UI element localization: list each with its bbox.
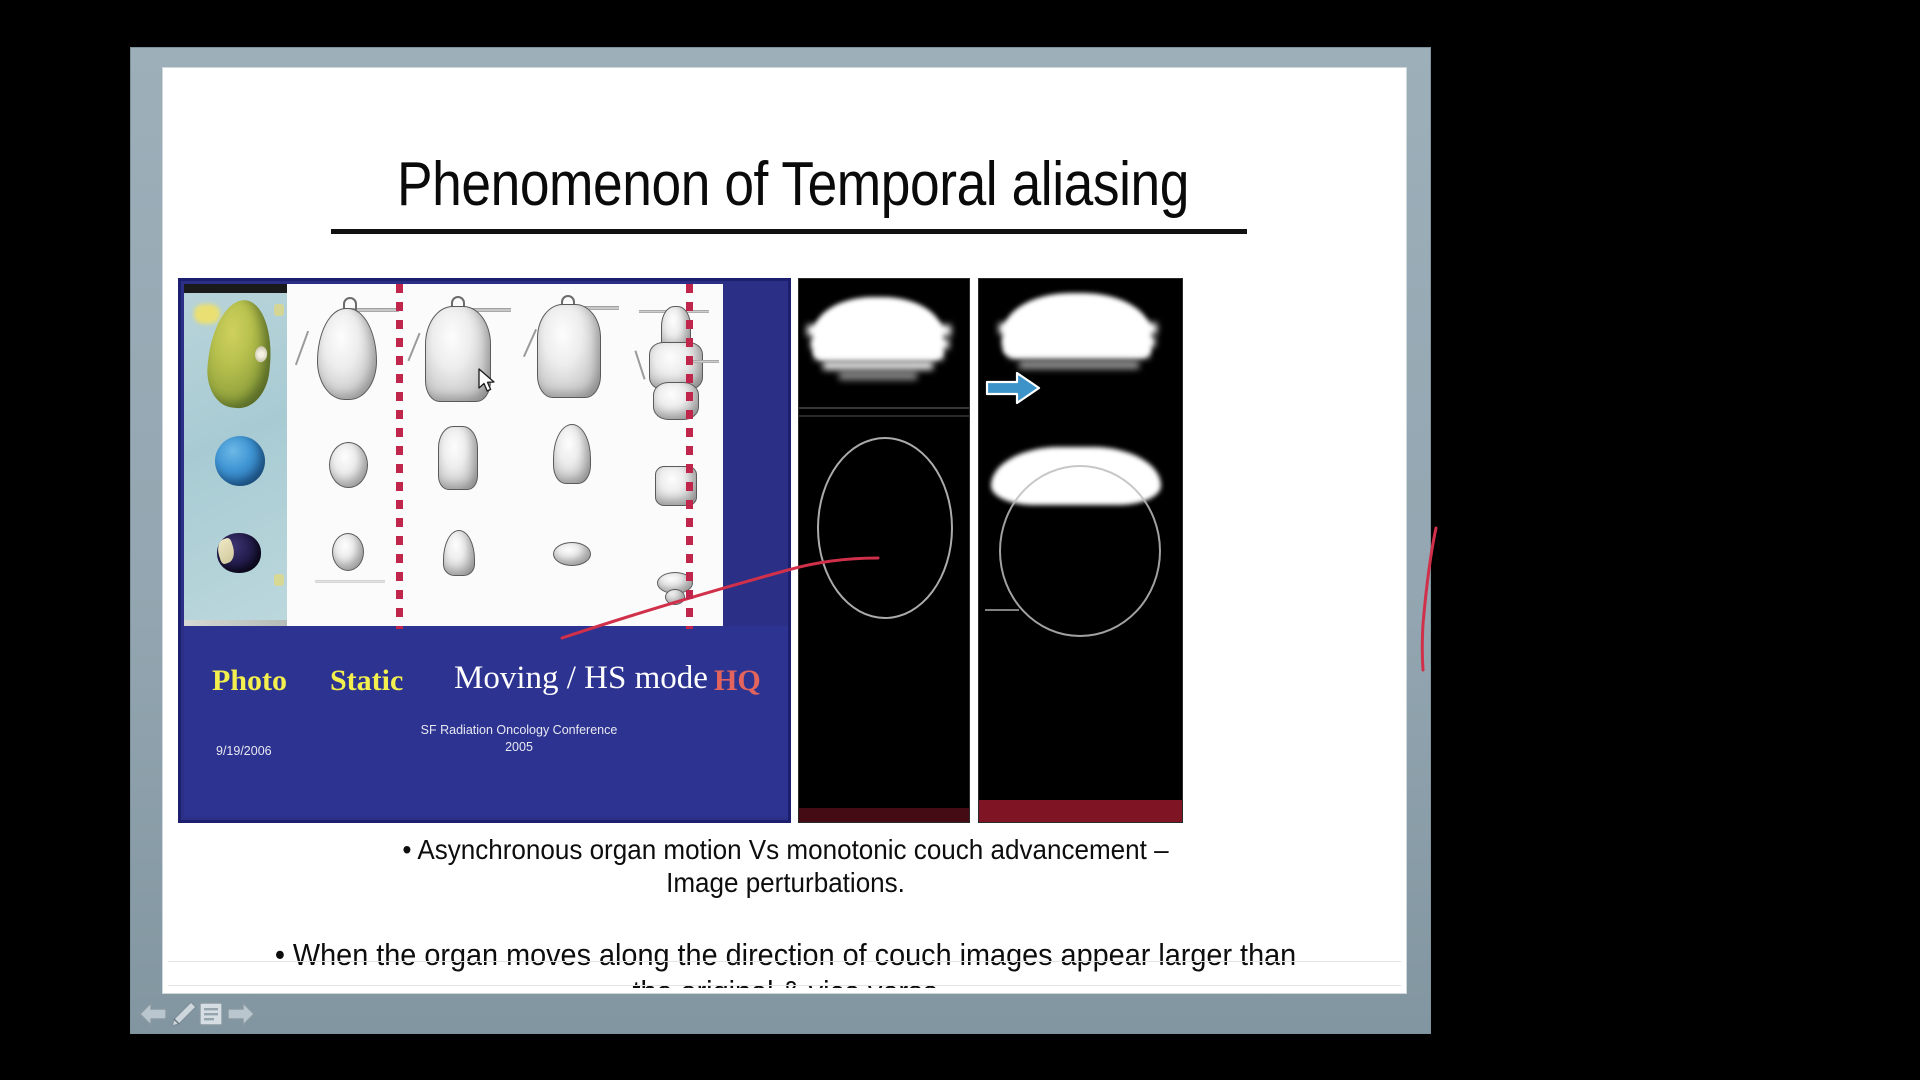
- column-photo: [184, 284, 287, 629]
- aliasing-streak-1: [999, 323, 1157, 334]
- figure-main-panel: Photo Static Moving / HS mode HQ SF Radi…: [178, 278, 791, 823]
- bullet-list: • Asynchronous organ motion Vs monotonic…: [188, 833, 1383, 988]
- aliasing-streak-4: [1019, 361, 1139, 369]
- wire: [523, 329, 537, 357]
- figure-image-row: [184, 284, 788, 629]
- photo-yellow-spot: [194, 304, 220, 324]
- bullet-1-line-2: Image perturbations.: [230, 866, 1341, 899]
- phantom-ellipse-outline: [817, 437, 953, 619]
- caption-conference-line2: 2005: [399, 739, 639, 756]
- panel-separator-2: [799, 415, 969, 417]
- bullet-2-line-1: • When the organ moves along the directi…: [230, 937, 1341, 974]
- menu-icon[interactable]: [196, 1000, 226, 1028]
- presentation-viewer-screen: Phenomenon of Temporal aliasing: [0, 0, 1920, 1080]
- wire: [295, 331, 309, 366]
- wire: [407, 333, 420, 362]
- column-hq: [623, 284, 723, 629]
- ct-shape-moving1-capsule: [438, 426, 478, 490]
- bullet-1-line-1: • Asynchronous organ motion Vs monotonic…: [230, 833, 1341, 866]
- page-title: Phenomenon of Temporal aliasing: [350, 153, 1236, 217]
- bullet-1: • Asynchronous organ motion Vs monotonic…: [230, 833, 1341, 899]
- caption-date: 9/19/2006: [216, 744, 272, 758]
- aliasing-streak-5: [839, 372, 917, 380]
- caption-conference: SF Radiation Oncology Conference 2005: [399, 722, 639, 756]
- support-rod-2: [691, 360, 719, 363]
- slide-navigation-toolbar[interactable]: [138, 1000, 258, 1030]
- wire: [634, 350, 645, 379]
- slide-hairline-top: [168, 961, 1401, 962]
- panel-separator-1: [799, 407, 969, 409]
- ct-shape-moving2-barrel: [537, 304, 601, 398]
- column-moving-2: [511, 284, 623, 629]
- figure-composite: Photo Static Moving / HS mode HQ SF Radi…: [178, 278, 1183, 823]
- column-moving-1: [399, 284, 511, 629]
- divider-moving-hq: [686, 284, 693, 629]
- caption-label-moving: Moving / HS mode: [454, 660, 708, 697]
- left-arrow-icon[interactable]: [138, 1000, 168, 1028]
- ct-shape-moving2-disc: [553, 542, 591, 566]
- slide-hairline-bottom: [168, 985, 1401, 986]
- divider-static-moving: [396, 284, 403, 629]
- aliasing-streak-2: [811, 339, 949, 349]
- caption-label-hq: HQ: [714, 664, 761, 698]
- column-static: [287, 284, 399, 629]
- photo-corner-mark-top: [274, 304, 284, 316]
- ct-shape-moving1-teardrop: [443, 530, 475, 576]
- panel-red-band: [979, 800, 1182, 822]
- slide-canvas: Phenomenon of Temporal aliasing: [168, 73, 1401, 988]
- ct-shape-moving2-pear: [553, 424, 591, 484]
- blue-arrow-annotation-icon: [985, 371, 1041, 405]
- right-arrow-icon[interactable]: [226, 1000, 256, 1028]
- berry-leaf: [215, 537, 238, 565]
- caption-conference-line1: SF Radiation Oncology Conference: [399, 722, 639, 739]
- panel-tick-mark: [985, 609, 1019, 611]
- ct-panel-right: [978, 278, 1183, 823]
- phantom-ellipse-outline: [999, 465, 1161, 637]
- aliasing-streak-4: [823, 361, 933, 370]
- aliasing-streak-1: [807, 325, 951, 336]
- ct-panel-middle: [798, 278, 970, 823]
- ct-shape-static-pear: [317, 308, 377, 400]
- shadow-line: [315, 580, 385, 583]
- title-underline: [331, 229, 1247, 234]
- caption-label-photo: Photo: [212, 664, 287, 698]
- aliasing-streak-3: [815, 351, 943, 360]
- photo-top-strip: [184, 284, 287, 293]
- figure-caption-bar: Photo Static Moving / HS mode HQ SF Radi…: [184, 626, 788, 817]
- caption-label-static: Static: [330, 664, 403, 698]
- mouse-cursor: [478, 368, 496, 394]
- ct-shape-static-ovoid: [329, 442, 368, 488]
- pen-icon[interactable]: [168, 1000, 198, 1028]
- blue-sphere-object: [215, 436, 265, 486]
- ct-shape-static-small: [332, 533, 364, 571]
- aliasing-streak-2: [1003, 337, 1155, 347]
- ct-shape-hq-disc-lower: [665, 589, 685, 605]
- bullet-2: • When the organ moves along the directi…: [230, 937, 1341, 988]
- photo-corner-mark-bottom: [274, 574, 284, 586]
- aliasing-streak-3: [1009, 349, 1149, 358]
- dark-berry-object: [217, 533, 261, 573]
- panel-red-band: [799, 808, 969, 822]
